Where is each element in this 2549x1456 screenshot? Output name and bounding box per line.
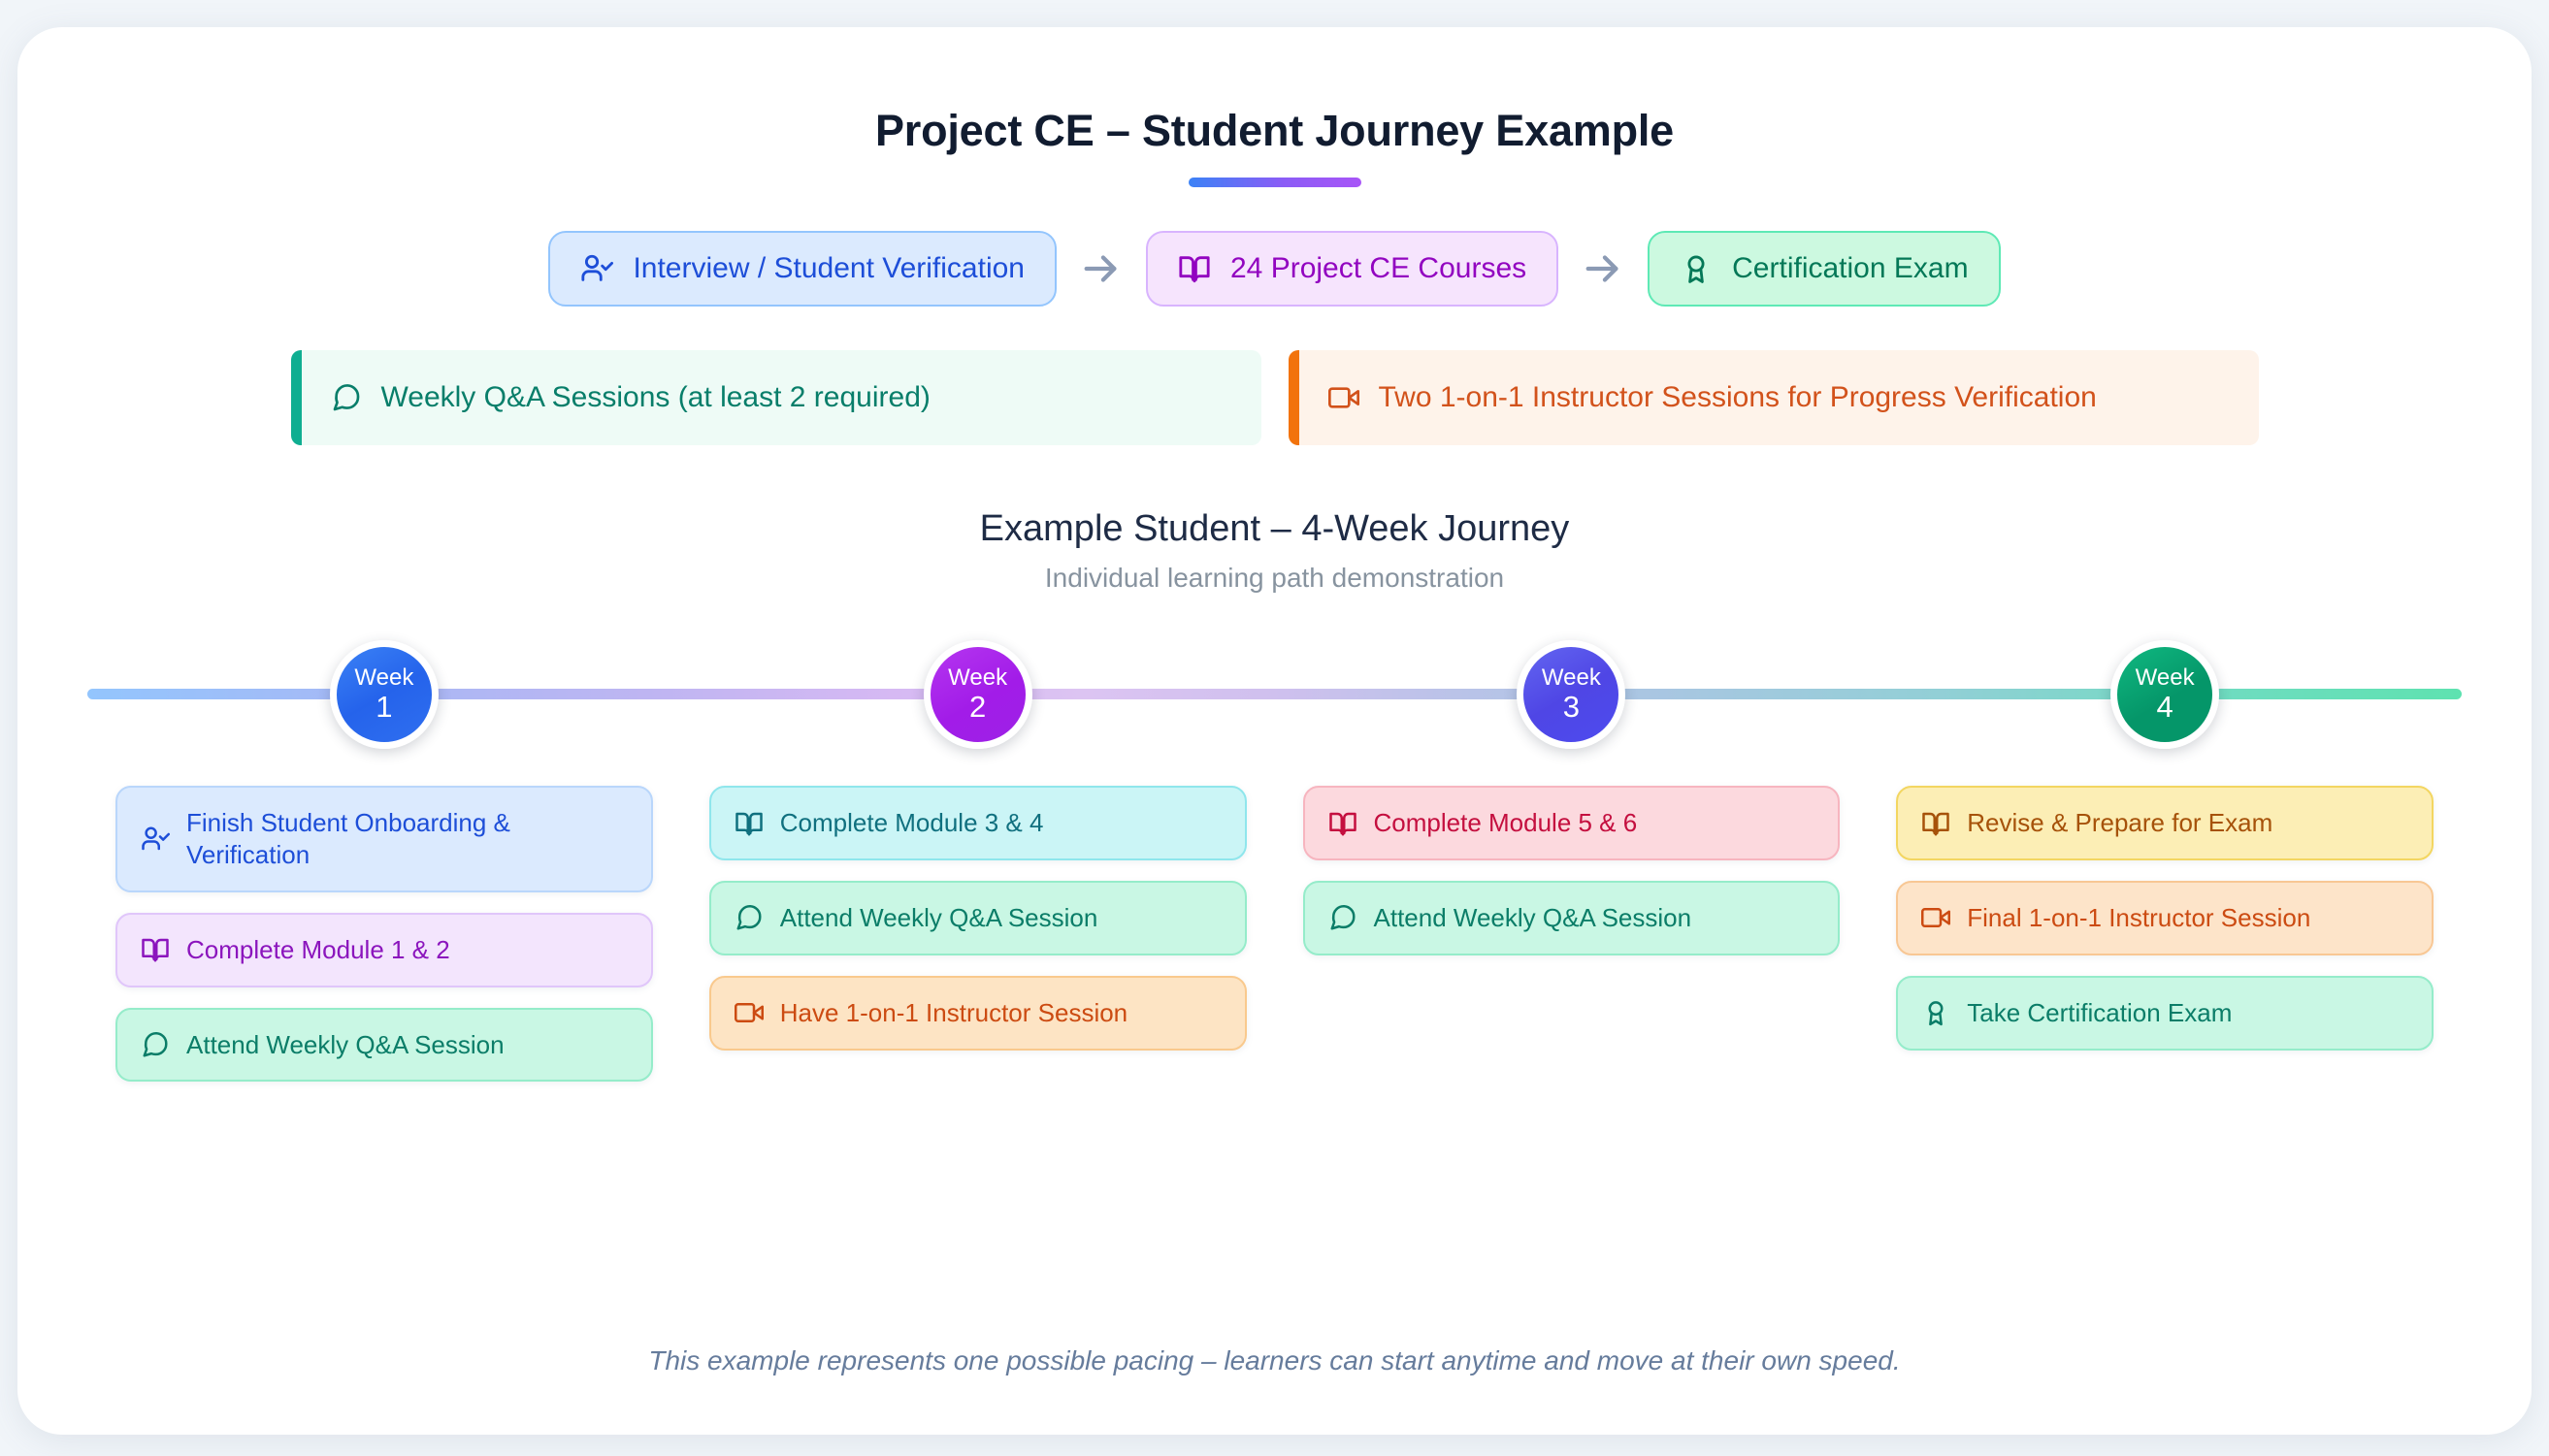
video-icon	[1328, 382, 1359, 413]
task-card[interactable]: Have 1-on-1 Instructor Session	[709, 976, 1247, 1051]
week-node[interactable]: Week3	[1517, 640, 1625, 749]
task-card[interactable]: Finish Student Onboarding & Verification	[115, 786, 653, 892]
task-card-label: Revise & Prepare for Exam	[1967, 807, 2272, 839]
award-icon	[1921, 998, 1950, 1027]
footer-note: This example represents one possible pac…	[87, 1345, 2462, 1406]
task-card-label: Complete Module 3 & 4	[780, 807, 1044, 839]
week-task-column: Finish Student Onboarding & Verification…	[87, 786, 681, 1082]
timeline-node-cell: Week3	[1275, 640, 1869, 749]
week-node-number: 2	[969, 691, 986, 725]
task-card-label: Take Certification Exam	[1967, 997, 2232, 1029]
flow-step-chip[interactable]: Interview / Student Verification	[548, 231, 1057, 307]
page-title: Project CE – Student Journey Example	[87, 107, 2462, 155]
week-node-word: Week	[354, 665, 413, 692]
week-node-word: Week	[1542, 665, 1601, 692]
timeline-node-row: Week1Week2Week3Week4	[87, 640, 2462, 749]
requirement-banner: Weekly Q&A Sessions (at least 2 required…	[291, 350, 1261, 445]
message-circle-icon	[1328, 903, 1357, 932]
message-circle-icon	[735, 903, 764, 932]
user-check-icon	[141, 825, 170, 854]
task-card[interactable]: Attend Weekly Q&A Session	[1303, 881, 1841, 955]
video-icon	[1921, 903, 1950, 932]
task-card-label: Attend Weekly Q&A Session	[1374, 902, 1692, 934]
flow-step-label: Interview / Student Verification	[633, 252, 1025, 285]
week-node-word: Week	[2136, 665, 2195, 692]
week-node-number: 1	[376, 691, 392, 725]
week-node[interactable]: Week1	[330, 640, 439, 749]
award-icon	[1680, 252, 1713, 285]
requirements-banner-row: Weekly Q&A Sessions (at least 2 required…	[87, 350, 2462, 445]
main-card: Project CE – Student Journey Example Int…	[17, 27, 2532, 1435]
task-card[interactable]: Attend Weekly Q&A Session	[709, 881, 1247, 955]
week-node[interactable]: Week4	[2110, 640, 2219, 749]
task-card-label: Finish Student Onboarding & Verification	[186, 807, 628, 871]
week-node-number: 3	[1563, 691, 1580, 725]
task-card[interactable]: Take Certification Exam	[1896, 976, 2434, 1051]
week-node-number: 4	[2157, 691, 2173, 725]
task-card[interactable]: Attend Weekly Q&A Session	[115, 1008, 653, 1083]
task-card[interactable]: Complete Module 5 & 6	[1303, 786, 1841, 860]
flow-steps-row: Interview / Student Verification24 Proje…	[87, 231, 2462, 307]
journey-section-heading: Example Student – 4-Week Journey Individ…	[87, 507, 2462, 595]
arrow-right-icon	[1558, 246, 1648, 291]
task-card[interactable]: Final 1-on-1 Instructor Session	[1896, 881, 2434, 955]
task-card[interactable]: Complete Module 1 & 2	[115, 913, 653, 987]
task-card[interactable]: Revise & Prepare for Exam	[1896, 786, 2434, 860]
timeline-node-cell: Week4	[1868, 640, 2462, 749]
requirement-banner: Two 1-on-1 Instructor Sessions for Progr…	[1289, 350, 2259, 445]
task-card-label: Complete Module 1 & 2	[186, 934, 450, 966]
book-open-icon	[1328, 809, 1357, 838]
timeline-node-cell: Week2	[681, 640, 1275, 749]
week-task-column: Revise & Prepare for ExamFinal 1-on-1 In…	[1868, 786, 2462, 1082]
task-card-label: Complete Module 5 & 6	[1374, 807, 1638, 839]
flow-step-chip[interactable]: Certification Exam	[1648, 231, 2000, 307]
section-subtitle: Individual learning path demonstration	[87, 563, 2462, 594]
task-card[interactable]: Complete Module 3 & 4	[709, 786, 1247, 860]
section-title: Example Student – 4-Week Journey	[87, 507, 2462, 551]
week-task-column: Complete Module 5 & 6Attend Weekly Q&A S…	[1275, 786, 1869, 1082]
requirement-banner-label: Weekly Q&A Sessions (at least 2 required…	[381, 381, 931, 414]
book-open-icon	[1921, 809, 1950, 838]
week-columns: Finish Student Onboarding & Verification…	[87, 786, 2462, 1082]
arrow-right-icon	[1057, 246, 1146, 291]
layout-spacer	[87, 1082, 2462, 1345]
week-task-column: Complete Module 3 & 4Attend Weekly Q&A S…	[681, 786, 1275, 1082]
flow-step-label: Certification Exam	[1732, 252, 1968, 285]
book-open-icon	[1178, 252, 1211, 285]
task-card-label: Attend Weekly Q&A Session	[780, 902, 1098, 934]
timeline-node-cell: Week1	[87, 640, 681, 749]
book-open-icon	[735, 809, 764, 838]
week-node-word: Week	[948, 665, 1007, 692]
week-node[interactable]: Week2	[924, 640, 1032, 749]
user-check-icon	[580, 252, 613, 285]
flow-step-chip[interactable]: 24 Project CE Courses	[1146, 231, 1558, 307]
flow-step-label: 24 Project CE Courses	[1230, 252, 1526, 285]
task-card-label: Have 1-on-1 Instructor Session	[780, 997, 1127, 1029]
message-circle-icon	[331, 382, 362, 413]
title-underline-rule	[1189, 178, 1361, 187]
task-card-label: Attend Weekly Q&A Session	[186, 1029, 505, 1061]
video-icon	[735, 998, 764, 1027]
book-open-icon	[141, 935, 170, 964]
requirement-banner-label: Two 1-on-1 Instructor Sessions for Progr…	[1379, 381, 2097, 414]
message-circle-icon	[141, 1030, 170, 1059]
page-title-block: Project CE – Student Journey Example	[87, 72, 2462, 187]
page-background: Project CE – Student Journey Example Int…	[0, 0, 2549, 1456]
task-card-label: Final 1-on-1 Instructor Session	[1967, 902, 2310, 934]
week-timeline: Week1Week2Week3Week4	[87, 640, 2462, 749]
